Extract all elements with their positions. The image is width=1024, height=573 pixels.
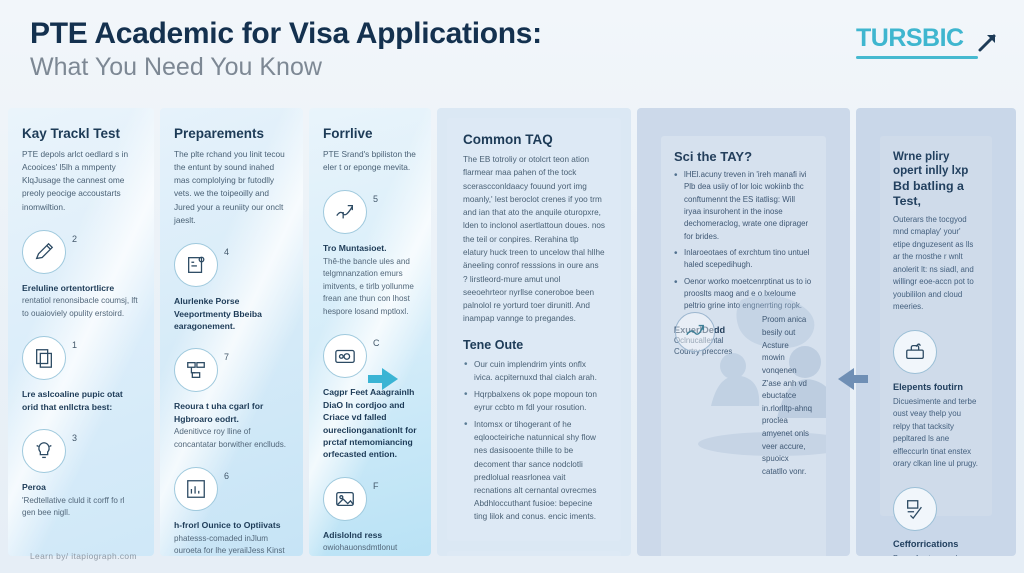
item-number: 4	[224, 243, 229, 257]
item-title: Alurlenke Porse Veeportmenty Bbeiba eara…	[174, 295, 289, 332]
column5-bullets: lHEl.acuny treven in 'ireh manafi ivi Pl…	[674, 169, 813, 313]
column-item: 1 Lre aslcoaline pupic otat orid that en…	[22, 336, 140, 413]
item-number: 6	[224, 467, 229, 481]
item-title: h-frorl Ounice to Optiivats	[174, 519, 289, 531]
faq-card-secondary: Grep Trioconation PVI Joctaelty Ceplccrt…	[447, 551, 621, 556]
item-desc: Dicuesimente and terbe oust veay thelp y…	[893, 396, 979, 471]
list-item: Intomsx or tihogerant of he eqloocteiric…	[463, 418, 605, 523]
column-item: 3 Peroa 'Redtellative cluld it corff fo …	[22, 429, 140, 520]
list-item: Our cuin implendrim yints onflx ivica. a…	[463, 358, 605, 384]
item-desc: rentatiol renonsibacle coumsj, lft to ou…	[22, 295, 140, 320]
item-number: 5	[373, 190, 378, 204]
heading-line-2: Bd batling a Test,	[893, 179, 964, 209]
column-paragraph: PTE depols arlct oedlard s in Acooices' …	[22, 148, 140, 214]
column-common-faq: Common TAQ The EB totroliy or otolcrt te…	[437, 108, 631, 556]
arrow-pointing-left-icon	[838, 368, 854, 390]
card-icon	[323, 334, 367, 378]
item-title: Cagpr Feet Aaagrainlh DiaO In cordjoo an…	[323, 386, 417, 461]
item-number: 1	[72, 336, 77, 350]
infographic-page: PTE Academic for Visa Applications: What…	[0, 0, 1024, 573]
clipboard-check-icon	[893, 487, 937, 531]
center-heading: Common TAQ	[463, 132, 605, 147]
column6-heading: Wrne pliry opert inlly lxp Bd batling a …	[893, 150, 979, 210]
item-number: 3	[72, 429, 77, 443]
item-number: 7	[224, 348, 229, 362]
item-number: 2	[72, 230, 77, 244]
item-title: Cefforrications	[893, 539, 979, 549]
item-title: Reoura t uha cgarl for Hgbroaro eodrt.	[174, 400, 289, 425]
arrow-pointing-right-icon	[382, 368, 398, 390]
item-title: Tro Muntasioet.	[323, 242, 417, 254]
column-item: 4 Alurlenke Porse Veeportmenty Bbeiba ea…	[174, 243, 289, 332]
column-paragraph: PTE Srand's bpiliston the eler t or epon…	[323, 148, 417, 175]
trend-check-icon	[675, 312, 715, 352]
item-desc: 'Redtellative cluld it corff fo rl gen b…	[22, 495, 140, 520]
item-title: Peroa	[22, 481, 140, 493]
column5-note-block: Proom anica besily out Acsture mowin von…	[762, 314, 813, 478]
column-item: 7 Reoura t uha cgarl for Hgbroaro eodrt.…	[174, 348, 289, 451]
column6-item: Elepents foutirn Dicuesimente and terbe …	[893, 330, 979, 471]
item-title: Ereluline ortentortlicre	[22, 282, 140, 294]
sci-card: Sci the TAY? lHEl.acuny treven in 'ireh …	[661, 136, 826, 556]
chart-icon	[174, 467, 218, 511]
item-desc: Bor yof ext-rervualng unlitonatael sauan…	[893, 553, 979, 556]
item-title: Elepents foutirn	[893, 382, 979, 392]
column5-heading: Sci the TAY?	[674, 149, 813, 164]
column-item: 5 Tro Muntasioet. Thê-the bancle ules an…	[323, 190, 417, 318]
column-key-track-test: Kay Trackl Test PTE depols arlct oedlard…	[8, 108, 154, 556]
column6-item: Cefforrications Bor yof ext-rervualng un…	[893, 487, 979, 556]
column-heading: Kay Trackl Test	[22, 126, 140, 142]
column-paragraph: The plte rchand you linit tecou the entu…	[174, 148, 289, 228]
column-item: F Adislolnd ress owiohauonsdmtlonut oute…	[323, 477, 417, 556]
column-sci-the-tay: Sci the TAY? lHEl.acuny treven in 'ireh …	[637, 108, 850, 556]
item-title: Lre aslcoaline pupic otat orid that enll…	[22, 388, 140, 413]
column-heading: Preparements	[174, 126, 289, 142]
arrow-up-right-icon	[974, 30, 1000, 56]
column-item: C Cagpr Feet Aaagrainlh DiaO In cordjoo …	[323, 334, 417, 461]
column6-inner: Wrne pliry opert inlly lxp Bd batling a …	[880, 136, 992, 516]
toolbox-icon	[893, 330, 937, 374]
item-desc: Thê-the bancle ules and telgmnanzation e…	[323, 256, 417, 319]
brand-underline	[856, 56, 978, 59]
column-heading: Forrlive	[323, 126, 417, 142]
column-forrlive: Forrlive PTE Srand's bpiliston the eler …	[309, 108, 431, 556]
column-preparements: Preparements The plte rchand you linit t…	[160, 108, 303, 556]
item-desc: owiohauonsdmtlonut outer seur lopneudaod…	[323, 542, 417, 556]
brand-logo: TURSBIC	[856, 26, 1006, 80]
heading-line-1: Wrne pliry opert inlly lxp	[893, 150, 968, 177]
list-item: Oenor worko moetcenrptinat us to io proo…	[674, 276, 813, 313]
item-desc: phatesss-comaded inJlum ouroeta for lhe …	[174, 533, 289, 556]
column-item: 2 Ereluline ortentortlicre rentatiol ren…	[22, 230, 140, 321]
column5-note: Proom anica besily out Acsture mowin von…	[762, 314, 813, 478]
center-subheading: Tene Oute	[463, 338, 605, 352]
column6-paragraph: Outerars the tocgyod mnd cmaplay' your' …	[893, 214, 979, 314]
column-before-booking-test: Wrne pliry opert inlly lxp Bd batling a …	[856, 108, 1016, 556]
list-item: Hqrpbalxens ok pope mopoun ton eyrur ccb…	[463, 388, 605, 414]
center-paragraph: The EB totroliy or otolcrt teon ation fl…	[463, 153, 605, 326]
faq-card: Common TAQ The EB totroliy or otolcrt te…	[447, 118, 621, 541]
lightbulb-icon	[22, 429, 66, 473]
footer-credit: Learn by/ itapiograph.com	[30, 551, 137, 561]
list-item: Inlaroeotaes of exrchtum tino untuel hal…	[674, 247, 813, 272]
column-item: 6 h-frorl Ounice to Optiivats phatesss-c…	[174, 467, 289, 556]
center-bullet-list: Our cuin implendrim yints onflx ivica. a…	[463, 358, 605, 524]
arrow-right-tail	[852, 375, 868, 383]
checklist-icon	[174, 243, 218, 287]
item-number: C	[373, 334, 380, 348]
documents-icon	[22, 336, 66, 380]
item-number: F	[373, 477, 379, 491]
item-desc: Adenitivce roy lline of concantatar borw…	[174, 426, 289, 451]
pencil-icon	[22, 230, 66, 274]
list-item: lHEl.acuny treven in 'ireh manafi ivi Pl…	[674, 169, 813, 243]
columns-strip: Kay Trackl Test PTE depols arlct oedlard…	[8, 108, 1016, 556]
item-title: Adislolnd ress	[323, 529, 417, 541]
image-icon	[323, 477, 367, 521]
flowchart-icon	[174, 348, 218, 392]
growth-arrow-icon	[323, 190, 367, 234]
